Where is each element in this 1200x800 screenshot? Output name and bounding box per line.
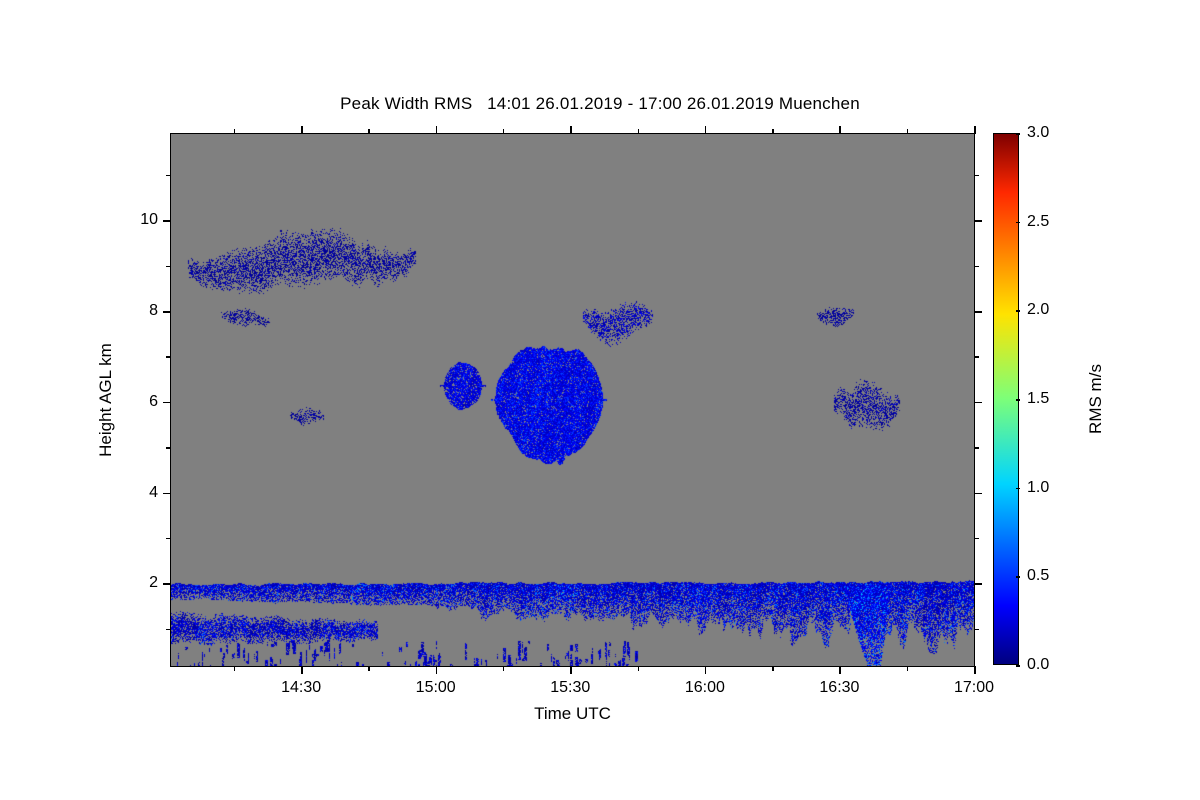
x-tick-major — [839, 666, 841, 674]
y-tick-major — [163, 583, 171, 585]
y-tick-minor — [974, 629, 979, 631]
y-tick-major — [974, 493, 982, 495]
x-tick-label: 15:00 — [416, 679, 456, 697]
y-tick-major — [974, 311, 982, 313]
y-tick-minor — [166, 629, 171, 631]
colorbar-tick — [1016, 310, 1020, 312]
colorbar-tick-label: 1.5 — [1027, 390, 1049, 408]
y-tick-label: 6 — [149, 393, 158, 411]
y-tick-major — [974, 583, 982, 585]
x-tick-minor — [368, 129, 370, 134]
y-tick-major — [163, 493, 171, 495]
colorbar-tick — [1016, 399, 1020, 401]
x-tick-major — [570, 666, 572, 674]
y-tick-minor — [166, 356, 171, 358]
y-tick-minor — [166, 447, 171, 449]
x-tick-minor — [503, 666, 505, 671]
x-tick-major — [570, 126, 572, 134]
y-tick-major — [163, 402, 171, 404]
y-tick-minor — [974, 538, 979, 540]
x-axis-title: Time UTC — [534, 704, 611, 724]
y-tick-major — [974, 402, 982, 404]
y-tick-minor — [974, 175, 979, 177]
y-tick-label: 4 — [149, 484, 158, 502]
y-tick-minor — [166, 175, 171, 177]
x-tick-label: 17:00 — [954, 679, 994, 697]
colorbar-tick — [1016, 222, 1020, 224]
x-tick-major — [436, 126, 438, 134]
x-tick-minor — [503, 129, 505, 134]
colorbar-tick-label: 1.0 — [1027, 479, 1049, 497]
x-tick-minor — [234, 666, 236, 671]
colorbar-tick-label: 2.5 — [1027, 213, 1049, 231]
x-tick-major — [301, 666, 303, 674]
x-tick-major — [974, 126, 976, 134]
y-tick-minor — [974, 356, 979, 358]
x-tick-minor — [638, 666, 640, 671]
colorbar-title: RMS m/s — [1086, 364, 1106, 434]
colorbar-tick — [1016, 133, 1020, 135]
x-tick-minor — [907, 666, 909, 671]
y-tick-major — [974, 220, 982, 222]
x-tick-major — [974, 666, 976, 674]
colorbar: 0.00.51.01.52.02.53.0 RMS m/s — [993, 133, 1019, 665]
y-axis-title: Height AGL km — [96, 343, 116, 457]
y-tick-label: 10 — [140, 211, 158, 229]
colorbar-tick-label: 2.0 — [1027, 301, 1049, 319]
y-tick-minor — [166, 538, 171, 540]
colorbar-tick — [1016, 576, 1020, 578]
y-tick-minor — [974, 447, 979, 449]
colorbar-tick — [1016, 488, 1020, 490]
y-tick-major — [163, 311, 171, 313]
colorbar-tick-label: 3.0 — [1027, 124, 1049, 142]
x-tick-major — [301, 126, 303, 134]
x-tick-label: 16:00 — [685, 679, 725, 697]
x-tick-major — [705, 126, 707, 134]
x-tick-label: 16:30 — [819, 679, 859, 697]
x-tick-label: 15:30 — [550, 679, 590, 697]
colorbar-tick — [1016, 665, 1020, 667]
x-tick-minor — [907, 129, 909, 134]
y-tick-label: 8 — [149, 302, 158, 320]
x-tick-major — [436, 666, 438, 674]
lidar-figure: Peak Width RMS 14:01 26.01.2019 - 17:00 … — [0, 0, 1200, 800]
plot-area: 246810 14:3015:0015:3016:0016:3017:00 He… — [170, 133, 975, 667]
x-tick-label: 14:30 — [281, 679, 321, 697]
x-tick-minor — [772, 666, 774, 671]
x-tick-minor — [368, 666, 370, 671]
x-tick-minor — [638, 129, 640, 134]
heatmap-canvas — [171, 134, 974, 666]
x-tick-major — [705, 666, 707, 674]
y-tick-minor — [974, 266, 979, 268]
x-tick-minor — [772, 129, 774, 134]
x-tick-minor — [234, 129, 236, 134]
x-tick-major — [839, 126, 841, 134]
y-tick-minor — [166, 266, 171, 268]
colorbar-tick-label: 0.5 — [1027, 567, 1049, 585]
y-tick-major — [163, 220, 171, 222]
figure-title: Peak Width RMS 14:01 26.01.2019 - 17:00 … — [0, 94, 1200, 114]
y-tick-label: 2 — [149, 574, 158, 592]
colorbar-tick-label: 0.0 — [1027, 656, 1049, 674]
